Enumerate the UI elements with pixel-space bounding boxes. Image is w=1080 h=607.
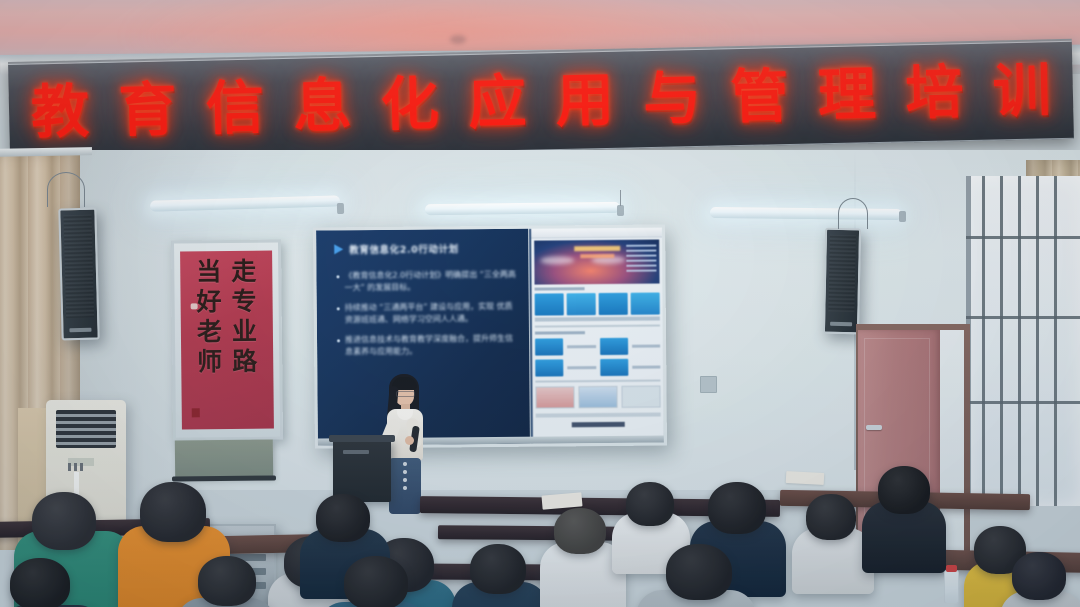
scroll-char: 走 <box>231 259 256 284</box>
light-wire <box>620 190 621 206</box>
column-speaker-right <box>823 228 861 335</box>
browser-bar <box>531 227 662 238</box>
speaker-grill <box>828 235 856 313</box>
banner-char: 理 <box>817 65 876 124</box>
presenter-hand <box>405 436 414 445</box>
portal-thumb <box>600 338 628 355</box>
audience-member-head <box>344 556 408 607</box>
banner-char: 育 <box>118 80 177 139</box>
portal-tile <box>599 293 628 315</box>
portal-text-line <box>632 366 661 369</box>
training-room-photo: 教 育 信 息 化 应 用 与 管 理 培 训 <box>0 0 1080 607</box>
light-cap <box>337 203 344 214</box>
audience-member-head <box>878 466 930 514</box>
audience-member-head <box>470 544 526 594</box>
scroll-char: 老 <box>197 319 222 344</box>
slide-title: 教育信息化2.0行动计划 <box>349 241 459 256</box>
audience-member <box>636 556 756 607</box>
audience-member <box>176 568 276 607</box>
audience-member-head <box>140 482 206 542</box>
banner-char: 管 <box>730 67 789 126</box>
banner-text: 教 育 信 息 化 应 用 与 管 理 培 训 <box>8 41 1074 162</box>
portal-footer-button <box>572 422 624 427</box>
portal-thumbnail <box>621 386 660 408</box>
slide-bullet-text: 持续推动 “三通两平台” 建设与应用，实现 优质资源班班通、网络学习空间人人通。 <box>345 301 519 327</box>
slide-bullet-item: 持续推动 “三通两平台” 建设与应用，实现 优质资源班班通、网络学习空间人人通。 <box>337 301 519 327</box>
ceiling-mark <box>450 35 466 44</box>
audience-member-head <box>198 556 256 606</box>
audience-member <box>0 574 104 607</box>
portal-section-heading <box>535 287 585 290</box>
portal-resource-row <box>535 338 660 356</box>
audience-member-head <box>10 558 70 607</box>
portal-text-line <box>567 366 596 369</box>
portal-text-line <box>567 345 596 348</box>
slide-bullet-text: 《教育信息化2.0行动计划》明确提出 “三全两高一大” 的发展目标。 <box>344 269 518 295</box>
banner-char: 应 <box>468 73 527 132</box>
portal-thumb <box>535 359 563 376</box>
slide-bullet-text: 推进信息技术与教育教学深度融合，提升师生信息素养与应用能力。 <box>345 332 519 358</box>
portal-thumbnail <box>578 386 617 408</box>
slide-bullets: 《教育信息化2.0行动计划》明确提出 “三全两高一大” 的发展目标。 持续推动 … <box>336 269 519 359</box>
banner-char: 用 <box>555 71 614 130</box>
audience-member <box>1000 562 1080 607</box>
light-cap <box>617 205 624 216</box>
window-bar <box>966 316 1080 319</box>
banner-char: 信 <box>205 78 264 137</box>
speaker-logo <box>69 328 91 333</box>
portal-thumb <box>535 338 563 355</box>
portal-thumbnail <box>535 386 574 408</box>
audience-member-head <box>806 494 856 540</box>
portal-tile <box>631 293 660 315</box>
audience-member-head <box>666 544 732 600</box>
play-triangle-icon <box>334 244 343 254</box>
ac-grille <box>56 410 116 448</box>
audience-member <box>612 486 690 548</box>
audience-member <box>862 472 946 544</box>
calligraphy-scroll: 走 专 业 路 当 好 老 师 <box>171 239 283 440</box>
lectern-top <box>329 435 395 442</box>
audience-member-head <box>1012 552 1066 600</box>
portal-tile-row <box>535 293 660 316</box>
wing-icon <box>540 256 574 264</box>
audience-member-head <box>554 508 606 554</box>
audience-member <box>318 570 428 607</box>
scroll-char: 业 <box>232 319 257 344</box>
audience-member-head <box>32 492 96 550</box>
ceiling-light-3 <box>710 207 902 220</box>
audience-member-head <box>708 482 766 534</box>
bullet-dot-icon <box>336 275 339 278</box>
portal-hero-sidelist <box>626 245 656 275</box>
portal-thumb <box>600 359 628 376</box>
portal-hero-banner <box>534 240 659 285</box>
door-handle[interactable] <box>866 425 882 430</box>
portal-divider <box>535 380 660 383</box>
banner-char: 培 <box>905 63 964 122</box>
portal-section-tiles <box>535 287 660 322</box>
banner-char: 息 <box>293 77 352 136</box>
scroll-char: 路 <box>232 349 257 374</box>
portal-section-heading <box>535 331 585 334</box>
bullet-dot-icon <box>337 339 340 342</box>
scroll-char: 好 <box>196 289 221 314</box>
audience-member-head <box>316 494 370 542</box>
speaker-cable-left <box>47 172 85 207</box>
portal-resource-row <box>535 359 660 377</box>
portal-screenshot <box>529 227 664 443</box>
portal-section-resources <box>535 331 660 377</box>
column-speaker-left <box>58 208 99 341</box>
banner-char: 训 <box>992 61 1051 120</box>
portal-tile <box>535 293 564 315</box>
bottle-cap <box>946 565 957 572</box>
scroll-char: 师 <box>197 349 222 374</box>
wall-outlet <box>700 376 717 393</box>
banner-char: 教 <box>30 82 89 141</box>
scroll-column-right: 走 专 业 路 <box>231 259 258 429</box>
audience-member-head <box>626 482 674 526</box>
speaker-grill <box>63 215 94 319</box>
glasses-icon <box>396 391 415 397</box>
window-bar <box>966 236 1080 239</box>
projection-screen[interactable]: 教育信息化2.0行动计划 《教育信息化2.0行动计划》明确提出 “三全两高一大”… <box>313 224 667 448</box>
slide-bullet-item: 《教育信息化2.0行动计划》明确提出 “三全两高一大” 的发展目标。 <box>336 269 518 295</box>
scroll-char: 当 <box>196 259 221 284</box>
audience <box>0 452 1080 607</box>
scroll-seal <box>192 408 200 417</box>
scroll-mark <box>191 303 198 309</box>
bullet-dot-icon <box>337 307 340 310</box>
portal-divider <box>535 325 660 328</box>
curtain-rod-left <box>0 147 92 157</box>
scroll-column-left: 当 好 老 师 <box>196 259 223 429</box>
water-bottle <box>944 570 959 604</box>
portal-tile <box>567 293 596 315</box>
speaker-cable-right <box>838 198 868 229</box>
portal-text-line <box>632 345 661 348</box>
banner-char: 化 <box>380 75 439 134</box>
portal-footer-line <box>536 413 661 418</box>
portal-hero-title <box>574 246 620 251</box>
portal-hero-subtitle <box>580 254 614 258</box>
scroll-char: 专 <box>231 289 256 314</box>
portal-thumbnail-row <box>535 386 660 409</box>
paper-sheet <box>786 471 825 485</box>
slide-title-row: 教育信息化2.0行动计划 <box>334 241 518 257</box>
slide-bullet-item: 推进信息技术与教育教学深度融合，提升师生信息素养与应用能力。 <box>337 332 519 358</box>
audience-member <box>452 552 548 607</box>
light-cap <box>899 211 906 222</box>
portal-tile-captions <box>535 317 660 322</box>
banner-char: 与 <box>643 69 702 128</box>
speaker-logo <box>830 322 852 326</box>
window-bar <box>966 401 1080 404</box>
scroll-paper: 走 专 业 路 当 好 老 师 <box>180 251 274 430</box>
